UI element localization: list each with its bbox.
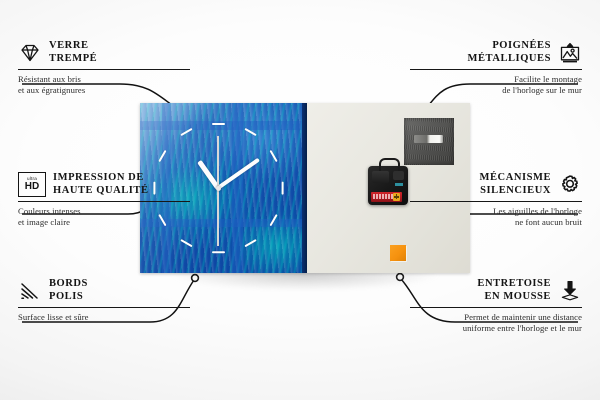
battery-plus-terminal: [393, 193, 400, 201]
feature-polished-edges: BORDS POLIS Surface lisse et sûre: [18, 278, 190, 323]
clock-tick: [281, 181, 283, 194]
feature-divider: [18, 201, 190, 202]
infographic-stage: VERRE TREMPÉ Résistant aux bris et aux é…: [0, 0, 600, 400]
hands-center-pin: [216, 186, 221, 191]
feature-subtitle-line1: Couleurs intenses: [18, 206, 190, 217]
down-arrow-layers-icon: [558, 279, 582, 303]
bracket-slot: [414, 135, 443, 143]
framed-picture-on-nail-icon: [558, 41, 582, 65]
second-hand: [217, 136, 219, 246]
diagonal-lines-icon: [18, 279, 42, 303]
feature-divider: [18, 307, 190, 308]
ultra-hd-badge-big-text: HD: [25, 182, 39, 192]
feature-head: BORDS POLIS: [18, 278, 190, 303]
feature-title: BORDS POLIS: [49, 278, 88, 303]
feature-divider: [410, 69, 582, 70]
feature-subtitle-line1: Permet de maintenir une distance: [410, 312, 582, 323]
mechanism-detail: [372, 171, 389, 183]
feature-subtitle-line2: et aux égratignures: [18, 85, 190, 96]
gear-icon: [558, 173, 582, 197]
mechanism-hanging-loop: [379, 158, 400, 171]
feature-print-quality: ultra HD IMPRESSION DE HAUTE QUALITÉ Cou…: [18, 172, 190, 228]
feature-head: ENTRETOISE EN MOUSSE: [410, 278, 582, 303]
feature-metal-handles: POIGNÉES MÉTALLIQUES Facilite le montage…: [410, 40, 582, 96]
feature-subtitle-line1: Les aiguilles de l'horloge: [410, 206, 582, 217]
mechanism-detail: [393, 171, 404, 180]
clock-mechanism-box: [368, 166, 408, 205]
feature-subtitle-line1: Facilite le montage: [410, 74, 582, 85]
feature-foam-spacer: ENTRETOISE EN MOUSSE Permet de maintenir…: [410, 278, 582, 334]
foam-spacer-pad: [390, 245, 406, 261]
mechanism-detail: [395, 183, 403, 186]
feature-divider: [18, 69, 190, 70]
feature-head: ultra HD IMPRESSION DE HAUTE QUALITÉ: [18, 172, 190, 197]
feature-subtitle-line2: uniforme entre l'horloge et le mur: [410, 323, 582, 334]
battery-label: [373, 194, 393, 199]
clock-tick: [212, 123, 225, 125]
feature-title: ENTRETOISE EN MOUSSE: [477, 278, 551, 303]
feature-subtitle-line2: de l'horloge sur le mur: [410, 85, 582, 96]
feature-title: MÉCANISME SILENCIEUX: [480, 172, 551, 197]
feature-tempered-glass: VERRE TREMPÉ Résistant aux bris et aux é…: [18, 40, 190, 96]
battery: [371, 192, 402, 202]
feature-subtitle-line2: ne font aucun bruit: [410, 217, 582, 228]
feature-divider: [410, 307, 582, 308]
feature-head: VERRE TREMPÉ: [18, 40, 190, 65]
metal-hanging-bracket: [404, 118, 454, 165]
feature-title: POIGNÉES MÉTALLIQUES: [468, 40, 551, 65]
feature-subtitle-line1: Surface lisse et sûre: [18, 312, 190, 323]
diamond-icon: [18, 41, 42, 65]
feature-head: MÉCANISME SILENCIEUX: [410, 172, 582, 197]
feature-title: VERRE TREMPÉ: [49, 40, 97, 65]
feature-title: IMPRESSION DE HAUTE QUALITÉ: [53, 172, 149, 197]
feature-subtitle-line2: et image claire: [18, 217, 190, 228]
clock-tick: [212, 251, 225, 253]
feature-silent-mechanism: MÉCANISME SILENCIEUX Les aiguilles de l'…: [410, 172, 582, 228]
feature-divider: [410, 201, 582, 202]
ultra-hd-badge-icon: ultra HD: [18, 172, 46, 197]
feature-head: POIGNÉES MÉTALLIQUES: [410, 40, 582, 65]
feature-subtitle-line1: Résistant aux bris: [18, 74, 190, 85]
